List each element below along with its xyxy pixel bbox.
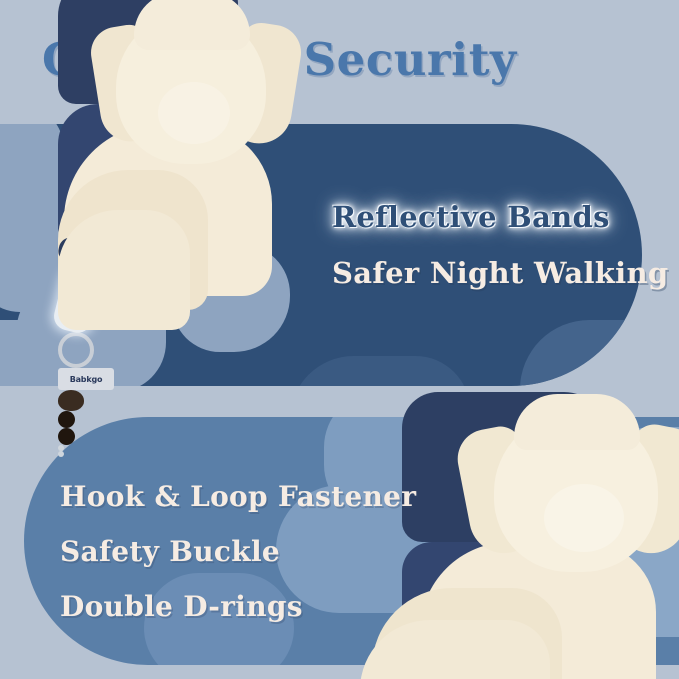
decorative-blob-shape (290, 356, 470, 386)
product-photo-dog-bottom (402, 392, 679, 679)
feature-label-safety-buckle: Safety Buckle (60, 535, 280, 568)
dog-muzzle (158, 82, 230, 144)
feature-label-reflective-bands: Reflective Bands (332, 200, 610, 234)
dog-nose (58, 390, 84, 411)
dog-eye-left (58, 411, 75, 428)
brand-label-patch: Babkgo (58, 368, 114, 390)
infographic-canvas: Get Multi Security Babkgo (0, 0, 679, 679)
decorative-blob-shape (520, 320, 642, 386)
feature-label-safer-night-walking: Safer Night Walking (332, 256, 668, 290)
dog-eye-highlight (58, 451, 64, 457)
dog-muzzle (544, 484, 624, 552)
d-ring-hardware (58, 332, 94, 368)
dog-eye-right (58, 428, 75, 445)
dog-front-fur (58, 210, 190, 330)
feature-label-double-d-rings: Double D-rings (60, 590, 303, 623)
feature-label-hook-loop-fastener: Hook & Loop Fastener (60, 480, 416, 513)
dog-head-fur (134, 0, 250, 50)
dog-head-fur (514, 394, 640, 450)
product-photo-dog-top: Babkgo (58, 0, 328, 274)
